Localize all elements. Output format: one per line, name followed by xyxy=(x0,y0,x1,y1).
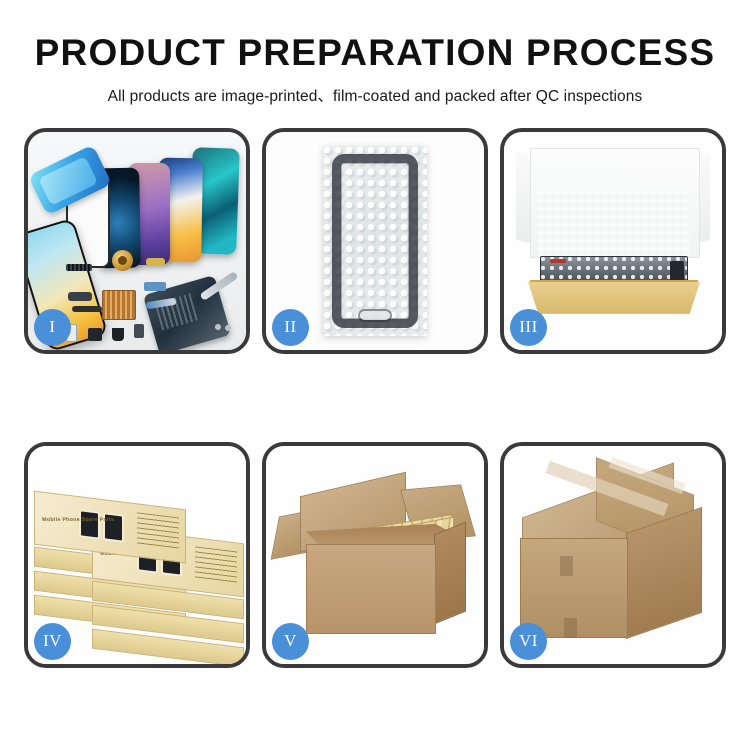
copper-coil-icon xyxy=(112,250,133,271)
carton-handle-notch xyxy=(560,556,573,576)
process-panel-2: II xyxy=(262,128,488,354)
module-dark-icon xyxy=(68,292,92,301)
panel-number-badge: IV xyxy=(34,623,71,660)
connector-strip-icon xyxy=(66,264,92,271)
box-tray xyxy=(528,282,700,314)
panel-number-badge: II xyxy=(272,309,309,346)
small-chip-icon xyxy=(88,328,102,341)
foam-insert xyxy=(538,190,690,256)
product-preparation-infographic: PRODUCT PREPARATION PROCESS All products… xyxy=(0,0,750,750)
page-title: PRODUCT PREPARATION PROCESS xyxy=(0,34,750,73)
header: PRODUCT PREPARATION PROCESS All products… xyxy=(0,0,750,106)
panel-number-badge: I xyxy=(34,309,71,346)
process-panel-1: I xyxy=(24,128,250,354)
box-brand-label: Mobile Phone Spare Parts xyxy=(42,517,115,523)
flex-cable-blue-icon xyxy=(144,282,166,291)
process-panel-4: Mobile Phone Spare Parts Mobile Phone Sp… xyxy=(24,442,250,668)
screws-icon xyxy=(214,322,236,332)
carton-handle-notch xyxy=(564,618,577,638)
wrapped-screen xyxy=(323,146,427,336)
copper-grid-pad-icon xyxy=(102,290,136,320)
battery-connector-icon xyxy=(134,324,144,338)
process-panel-3: III xyxy=(500,128,726,354)
carton-front xyxy=(306,544,436,634)
carton-side xyxy=(434,521,466,624)
process-panel-grid: I II III xyxy=(24,128,726,668)
ribbon-cable-icon xyxy=(72,306,102,312)
process-panel-5: V xyxy=(262,442,488,668)
page-subtitle: All products are image-printed、film-coat… xyxy=(0,84,750,106)
speaker-icon xyxy=(112,328,124,341)
panel-number-badge: V xyxy=(272,623,309,660)
process-panel-6: VI xyxy=(500,442,726,668)
panel-number-badge: VI xyxy=(510,623,547,660)
box-spec-lines xyxy=(195,546,237,585)
box-spec-lines xyxy=(137,512,179,551)
box-screen-image xyxy=(79,509,100,540)
flex-cable-gold-icon xyxy=(146,258,165,266)
panel-number-badge: III xyxy=(510,309,547,346)
